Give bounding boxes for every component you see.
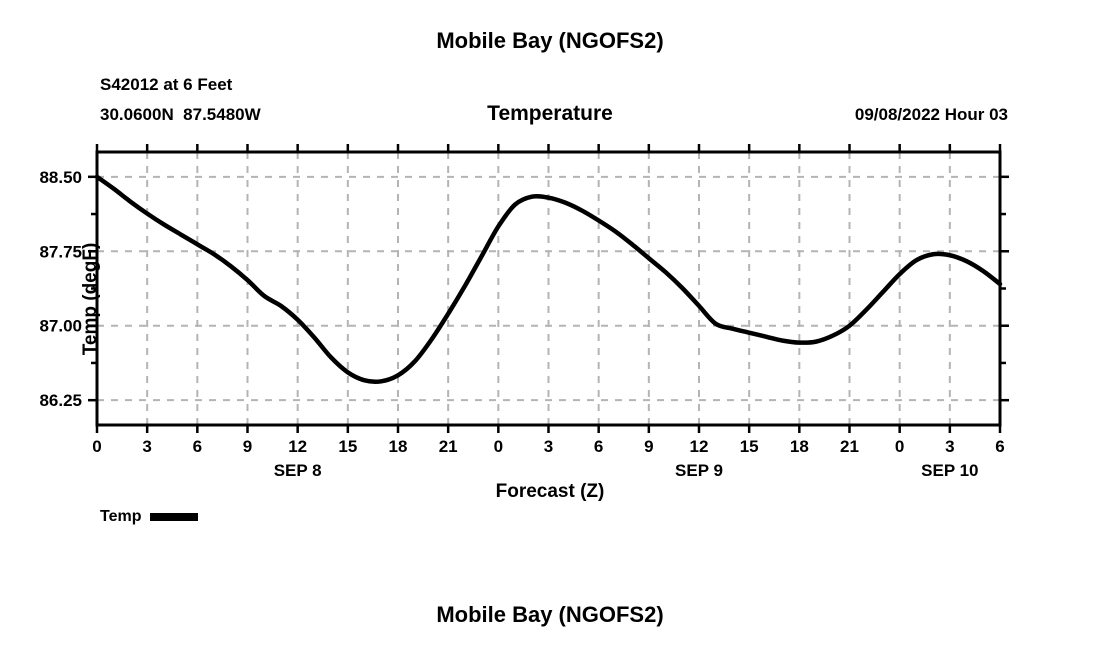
x-tick-label: 0 [92, 437, 101, 456]
x-tick-label: 12 [690, 437, 709, 456]
x-tick-label: 18 [389, 437, 408, 456]
y-axis-tick-labels: 88.5087.7587.0086.25 [39, 168, 82, 410]
x-tick-label: 21 [840, 437, 859, 456]
legend-label-temp: Temp [100, 508, 141, 526]
y-axis-title: Temp (degF) [80, 199, 102, 399]
y-tick-label: 86.25 [39, 391, 82, 410]
x-tick-label: 18 [790, 437, 809, 456]
x-tick-label: 3 [544, 437, 553, 456]
x-day-label: SEP 10 [921, 461, 978, 480]
page-title-bottom: Mobile Bay (NGOFS2) [0, 602, 1100, 628]
x-day-label: SEP 8 [274, 461, 322, 480]
x-tick-label: 21 [439, 437, 458, 456]
x-tick-label: 6 [995, 437, 1004, 456]
chart-legend: Temp [100, 508, 198, 526]
x-tick-label: 0 [895, 437, 904, 456]
x-tick-label: 3 [142, 437, 151, 456]
chart-container: 036912151821036912151821036 88.5087.7587… [0, 0, 1100, 650]
legend-swatch-temp [150, 513, 198, 521]
x-tick-label: 6 [594, 437, 603, 456]
x-tick-label: 9 [243, 437, 252, 456]
x-tick-label: 6 [193, 437, 202, 456]
x-tick-label: 9 [644, 437, 653, 456]
y-tick-label: 87.00 [39, 317, 82, 336]
x-tick-label: 0 [494, 437, 503, 456]
plot-background [97, 152, 1000, 425]
x-tick-label: 15 [740, 437, 759, 456]
x-tick-label: 15 [338, 437, 357, 456]
x-axis-title: Forecast (Z) [0, 481, 1100, 503]
y-tick-label: 87.75 [39, 242, 82, 261]
x-tick-label: 12 [288, 437, 307, 456]
temperature-line-chart: 036912151821036912151821036 88.5087.7587… [0, 0, 1100, 650]
x-axis-day-labels: SEP 8SEP 9SEP 10 [274, 461, 979, 480]
x-axis-tick-labels: 036912151821036912151821036 [92, 437, 1004, 456]
x-tick-label: 3 [945, 437, 954, 456]
x-day-label: SEP 9 [675, 461, 723, 480]
y-tick-label: 88.50 [39, 168, 82, 187]
